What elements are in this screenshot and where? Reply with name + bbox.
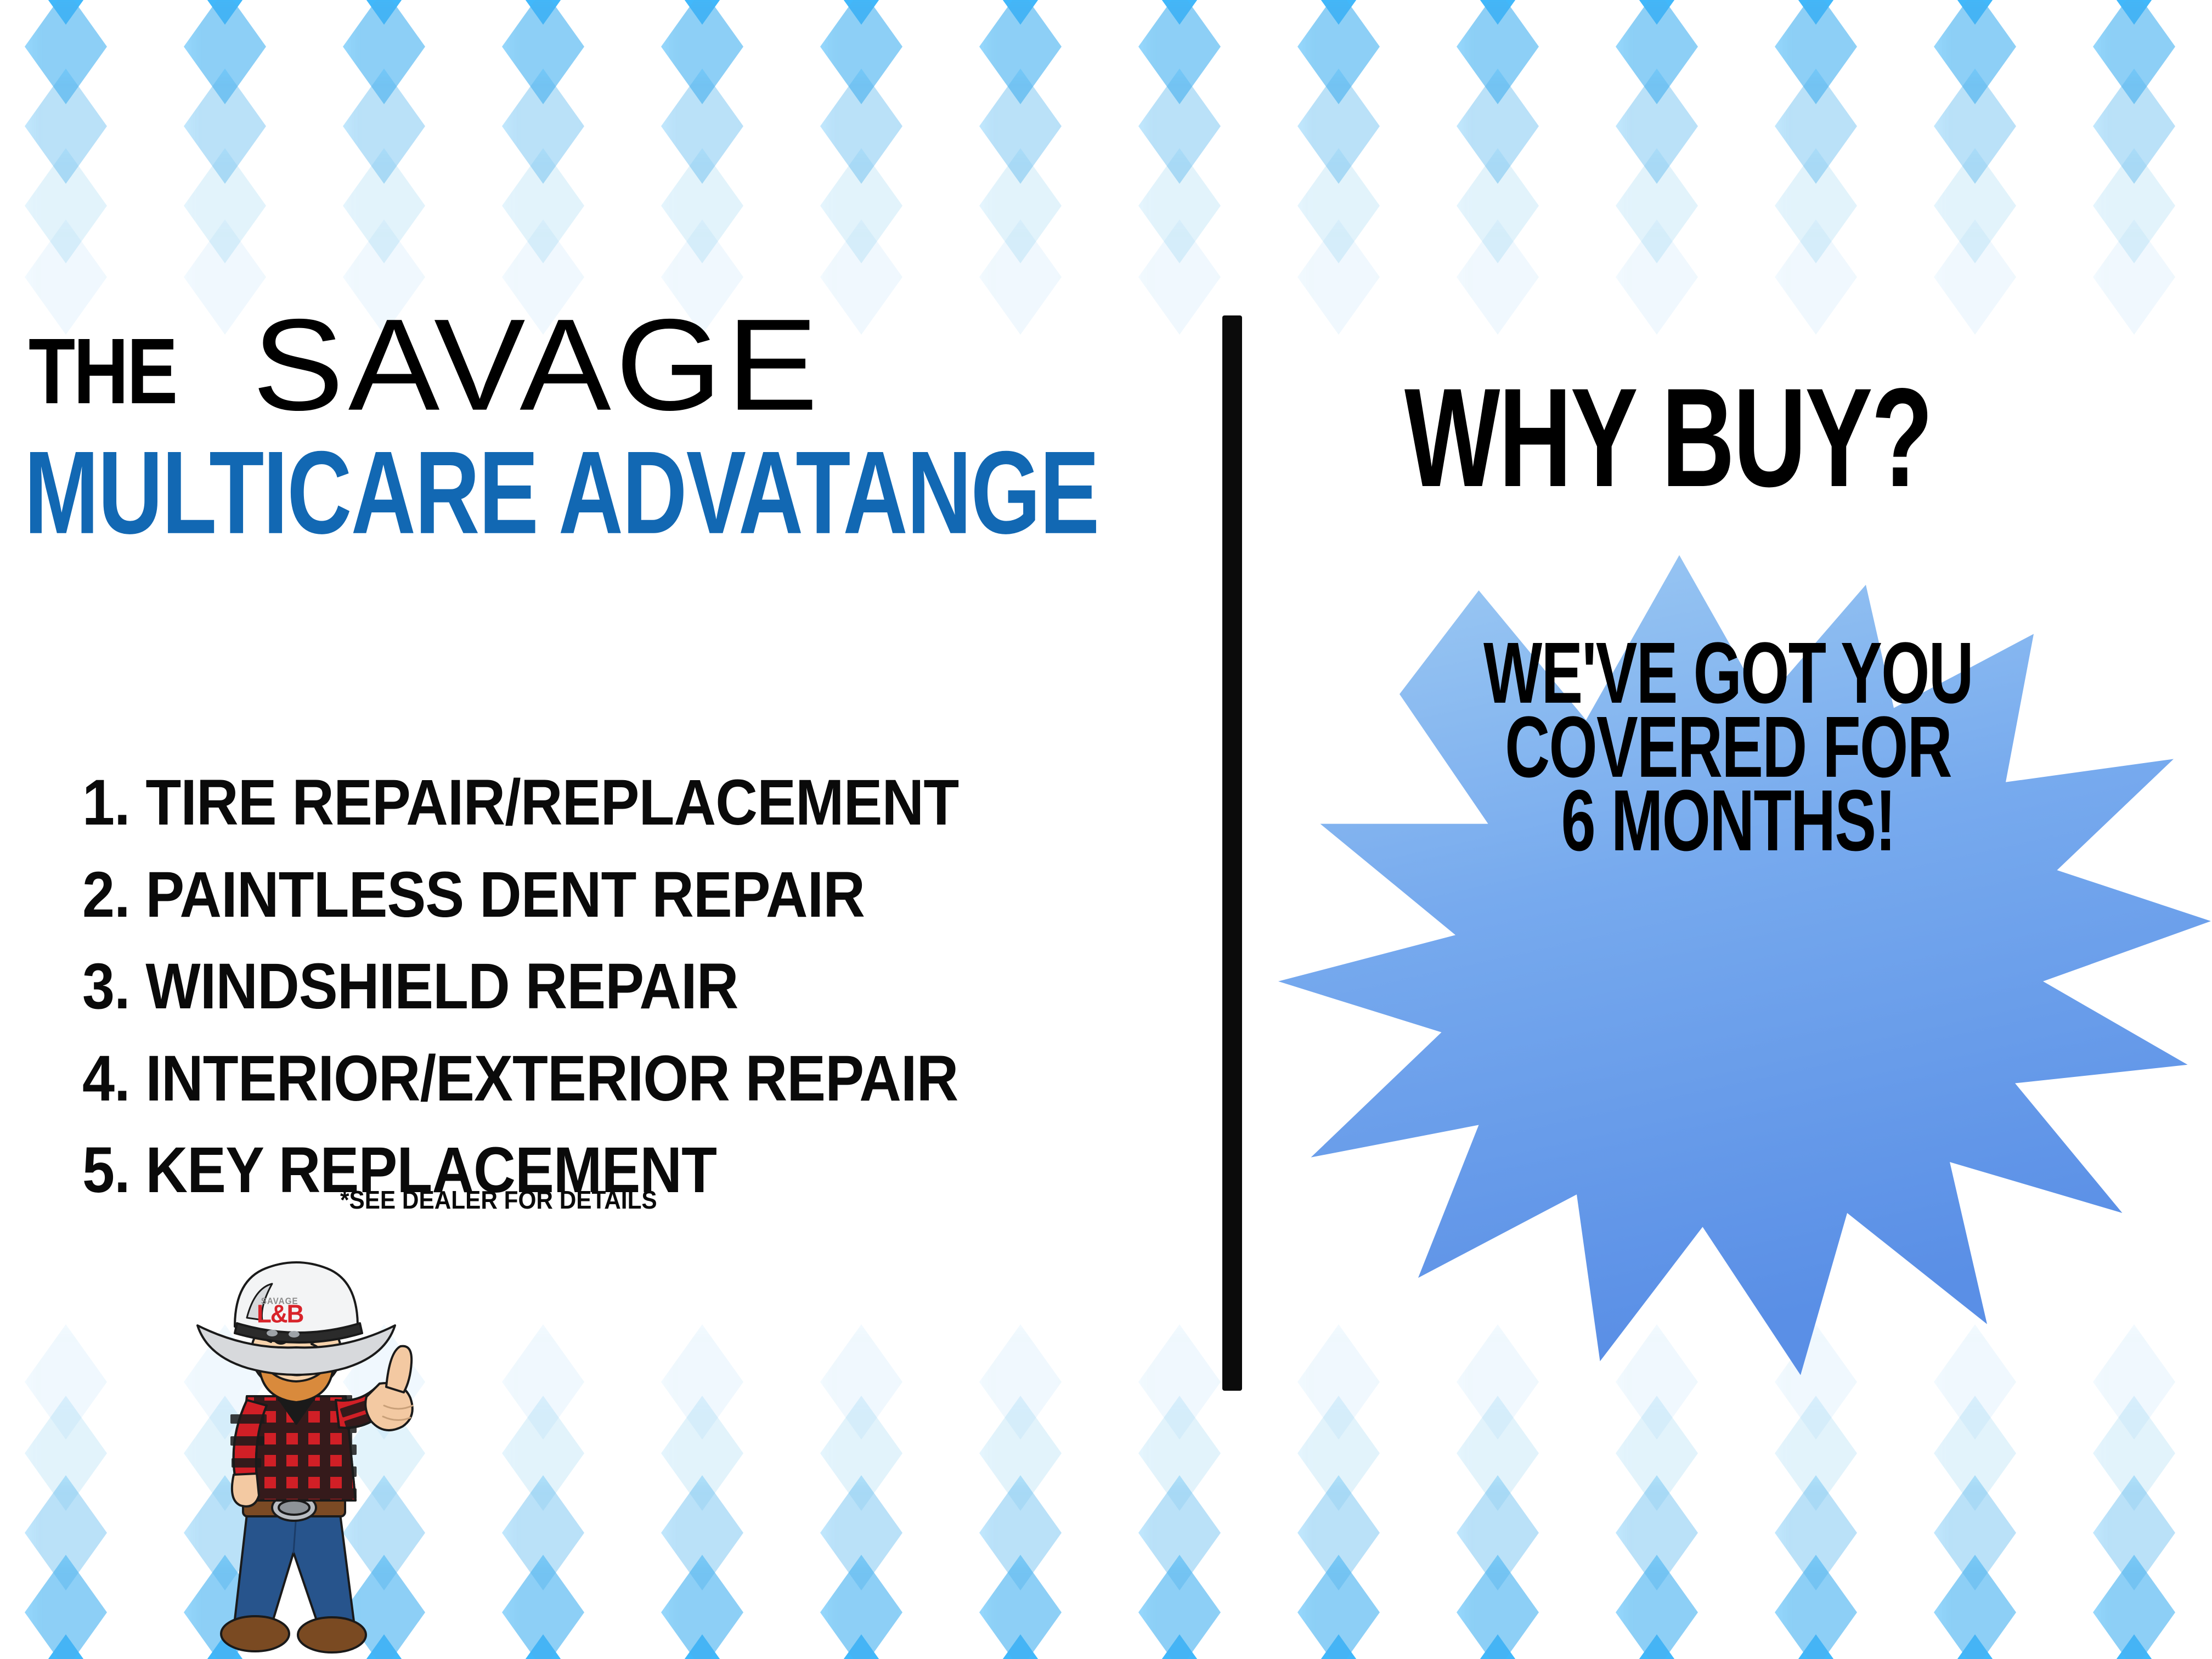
why-buy-heading: WHY BUY? [1404, 368, 1932, 508]
right-panel: WHY BUY? WE'VE GOT YOU COVERED FOR 6 MON… [1262, 296, 2212, 1503]
service-list: 1. TIRE REPAIR/REPLACEMENT 2. PAINTLESS … [82, 757, 1056, 1217]
list-item: 3. WINDSHIELD REPAIR [82, 941, 958, 1033]
starburst-shape [1278, 546, 2211, 1380]
list-item: 1. TIRE REPAIR/REPLACEMENT [82, 757, 958, 849]
background-pattern-top [0, 0, 2212, 307]
list-item: 2. PAINTLESS DENT REPAIR [82, 849, 958, 941]
headline-the: THE [29, 325, 176, 418]
headline-subtitle: MULTICARE ADVATANGE [24, 433, 1099, 551]
list-item: 4. INTERIOR/EXTERIOR REPAIR [82, 1033, 958, 1125]
vertical-divider [1222, 315, 1242, 1391]
disclaimer-text: *SEE DEALER FOR DETAILS [340, 1185, 657, 1215]
mascot-cowboy: SAVAGE L&B [165, 1256, 422, 1659]
hat-logo-lb-text: L&B [257, 1302, 303, 1327]
headline-savage-wordmark: SAVAGE [252, 300, 822, 430]
promo-poster: THE SAVAGE MULTICARE ADVATANGE 1. TIRE R… [0, 0, 2212, 1659]
